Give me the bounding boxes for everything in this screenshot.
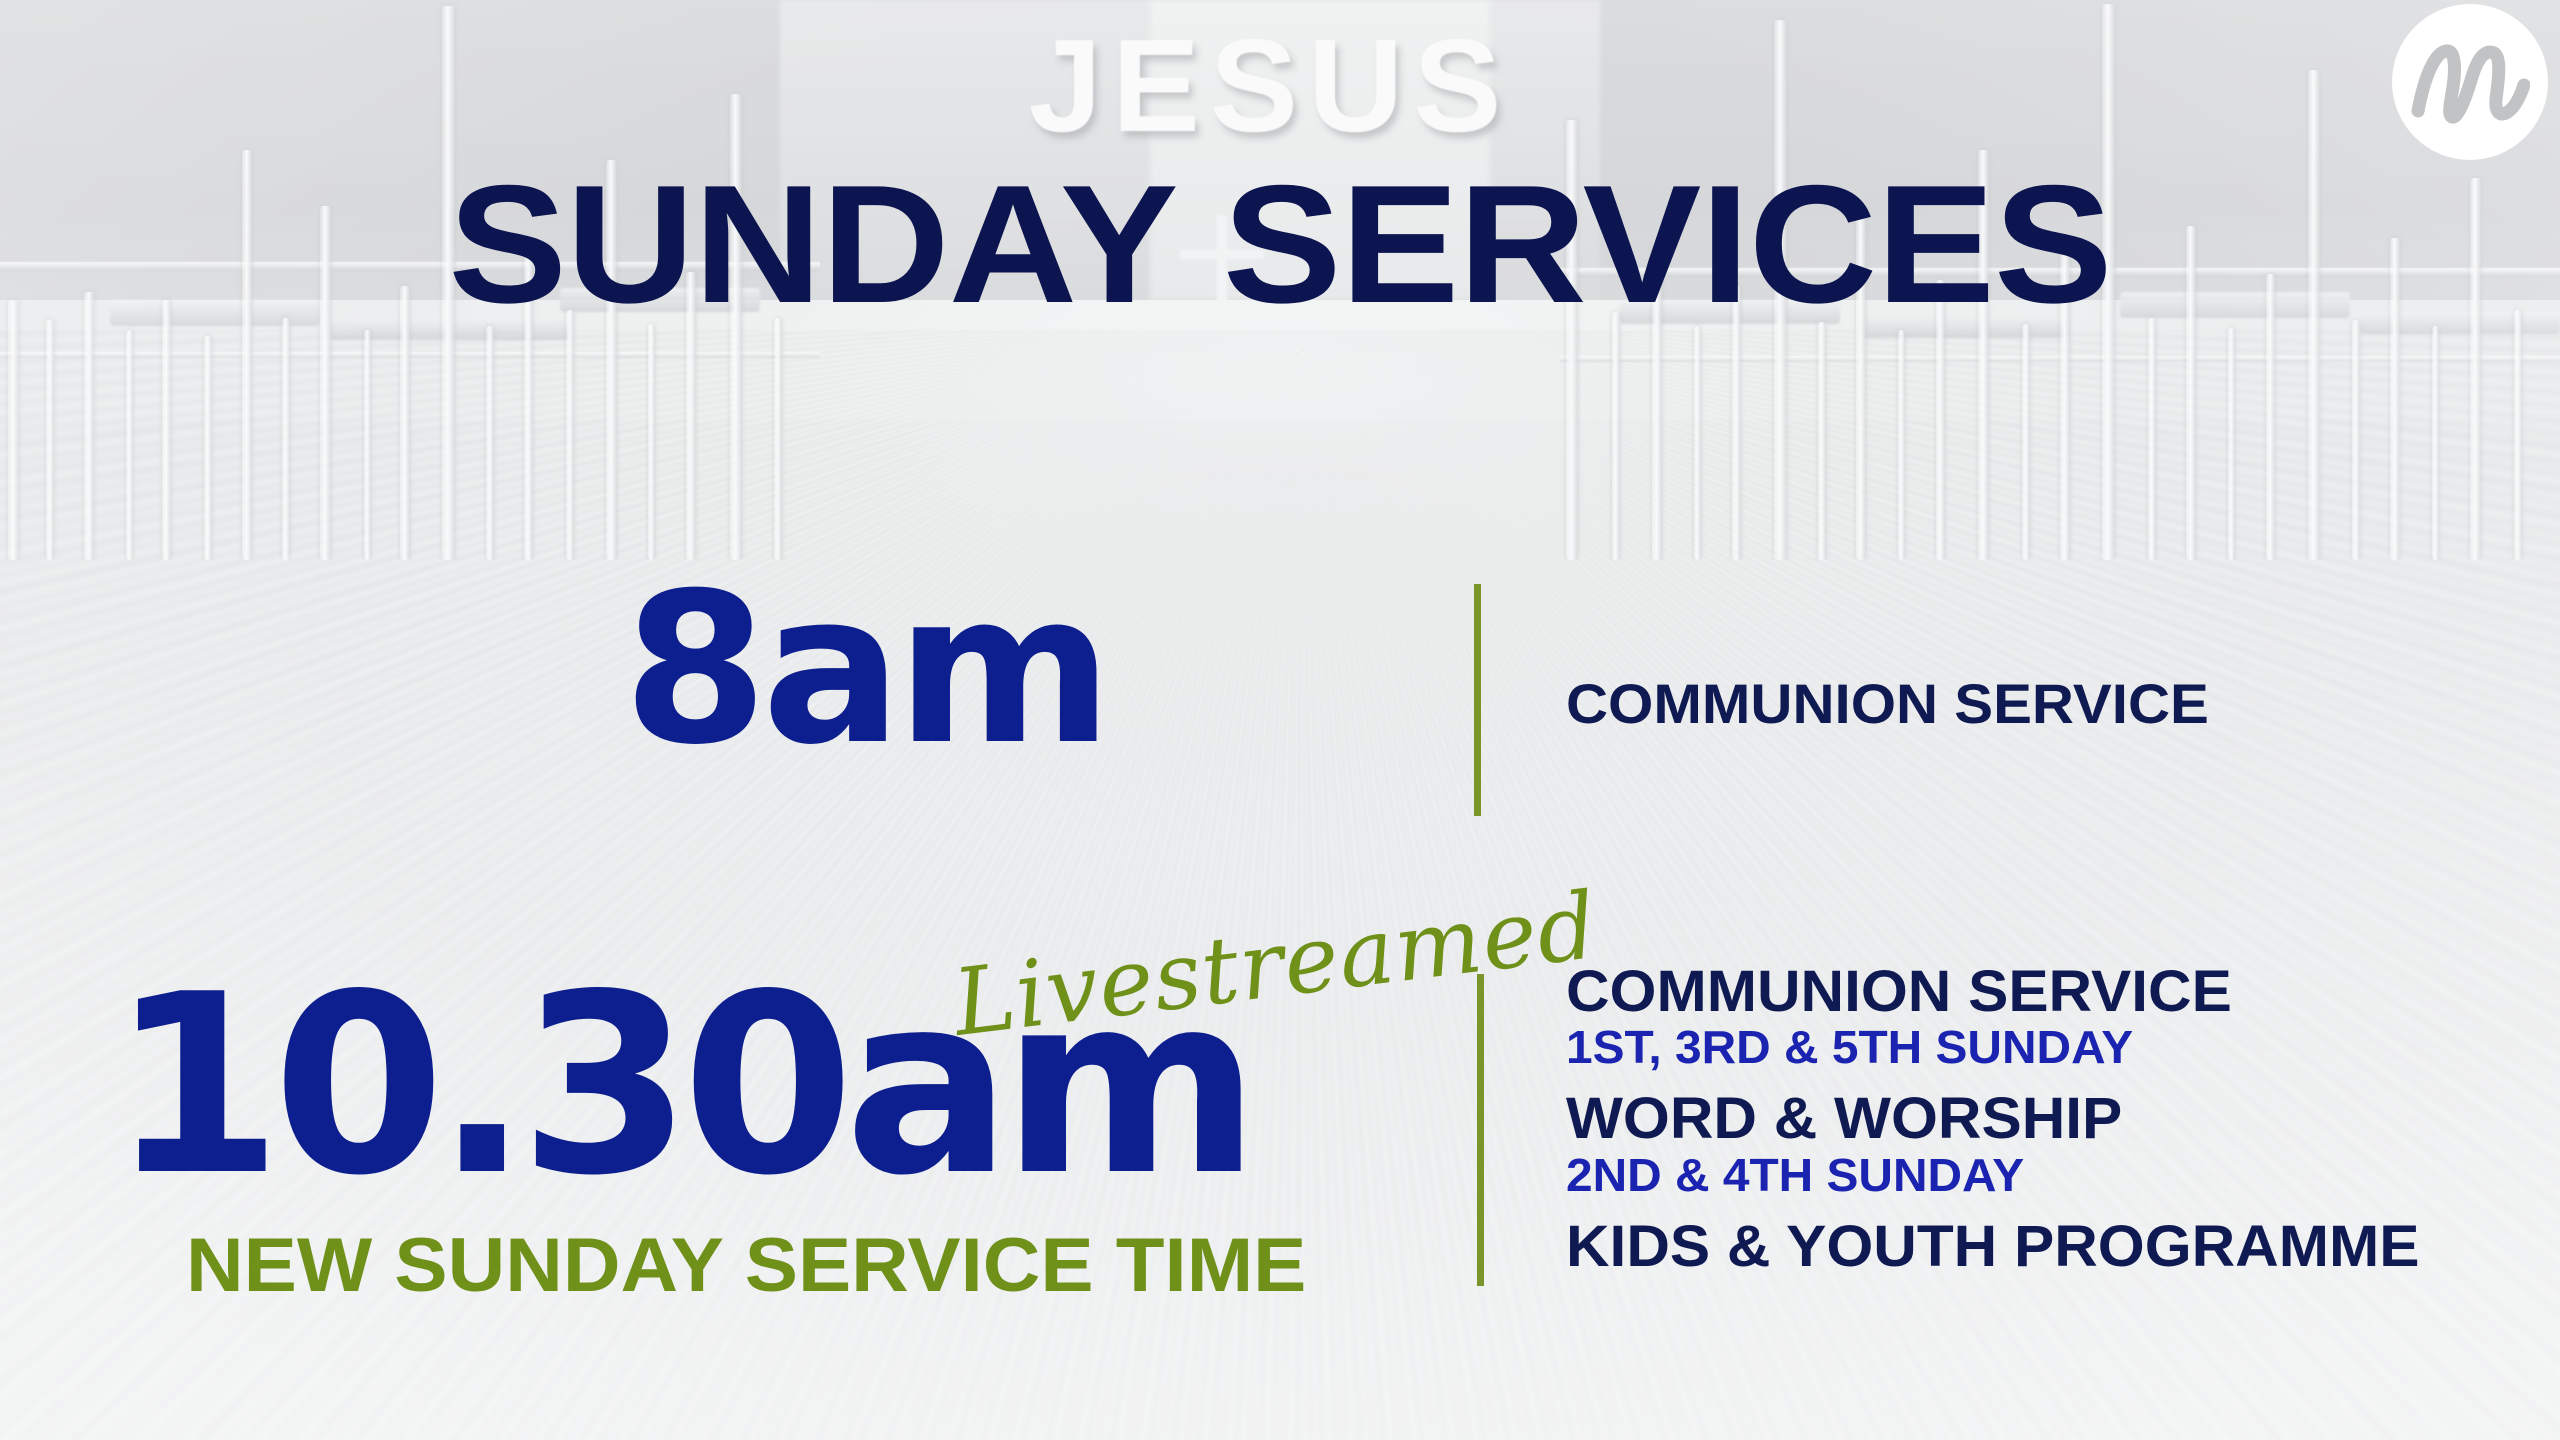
livestreamed-badge: Livestreamed [949,880,1602,1050]
divider-top [1474,584,1481,816]
detail-title: COMMUNION SERVICE [1566,962,2560,1021]
brand-logo [2392,4,2548,160]
detail-item: COMMUNION SERVICE 1ST, 3RD & 5TH SUNDAY [1566,962,2546,1071]
detail-item: WORD & WORSHIP 2ND & 4TH SUNDAY [1566,1089,2546,1198]
detail-subtitle: 2ND & 4TH SUNDAY [1566,1151,2560,1199]
detail-item: KIDS & YOUTH PROGRAMME [1566,1217,2546,1276]
sunday-services-poster: JESUS [0,0,2560,1440]
service-time-8am: 8am [300,566,1430,774]
detail-title: KIDS & YOUTH PROGRAMME [1566,1217,2560,1276]
cursive-m-icon [2410,27,2530,137]
page-title: SUNDAY SERVICES [0,160,2560,328]
poster-content: SUNDAY SERVICES 8am COMMUNION SERVICE 10… [0,0,2560,1440]
detail-subtitle: 1ST, 3RD & 5TH SUNDAY [1566,1023,2560,1071]
divider-bottom [1477,974,1484,1286]
new-service-time-strapline: NEW SUNDAY SERVICE TIME [186,1228,1306,1304]
detail-title: WORD & WORSHIP [1566,1089,2560,1148]
service-label-8am: COMMUNION SERVICE [1566,676,2209,732]
service-details-list: COMMUNION SERVICE 1ST, 3RD & 5TH SUNDAY … [1566,962,2546,1276]
